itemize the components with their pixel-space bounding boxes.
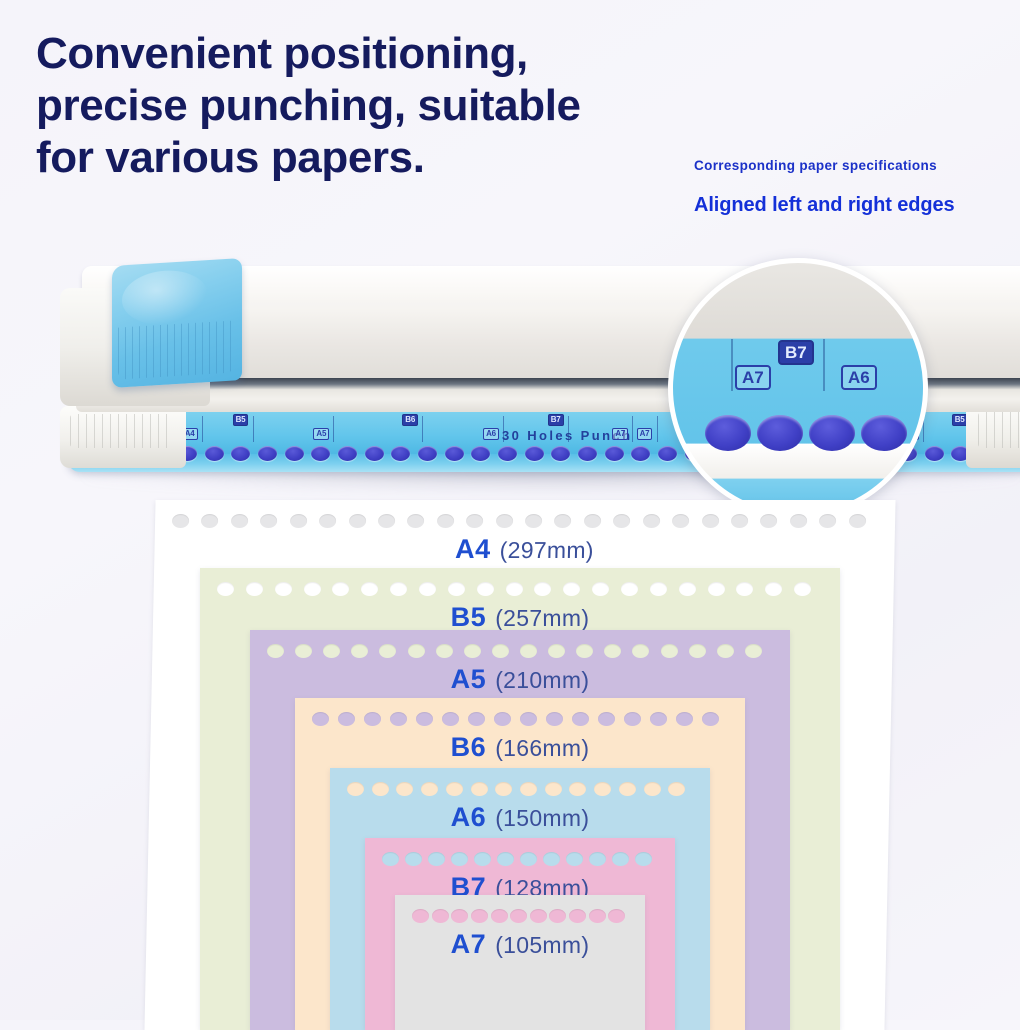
sheet-punch-hole (661, 644, 678, 658)
sheet-punch-hole (765, 582, 782, 596)
sheet-punch-hole (745, 644, 762, 658)
sheet-punch-hole (451, 909, 468, 923)
sheet-punch-hole (632, 644, 649, 658)
sheet-punch-hole (731, 514, 748, 528)
sheet-punch-hole (613, 514, 630, 528)
sheet-punch-hole (497, 852, 514, 866)
sheet-punch-hole (650, 582, 667, 596)
sheet-punch-hole (412, 909, 429, 923)
sheet-punch-hole (267, 644, 284, 658)
sheet-punch-hole (246, 582, 263, 596)
sheet-punch-hole (408, 644, 425, 658)
sheet-punch-hole (437, 514, 454, 528)
sheet-punch-hole (672, 514, 689, 528)
sheet-size-mm: (166mm) (495, 735, 589, 761)
sheet-size-label: A6(150mm) (330, 802, 710, 833)
sheet-punch-hole (506, 582, 523, 596)
sheet-punch-hole (416, 712, 433, 726)
sheet-punch-hole (621, 582, 638, 596)
sheet-punch-hole (819, 514, 836, 528)
sheet-punch-hole (451, 852, 468, 866)
sheet-punch-hole (569, 909, 586, 923)
sheet-punch-hole (382, 852, 399, 866)
sheet-punch-hole (608, 909, 625, 923)
sheet-size-label: A5(210mm) (250, 664, 790, 695)
sheet-punch-hole (390, 712, 407, 726)
sheet-size-label: B5(257mm) (200, 602, 840, 633)
sheet-punch-hole (668, 782, 685, 796)
sheet-punch-hole (495, 782, 512, 796)
sheet-punch-hole (471, 909, 488, 923)
sheet-punch-hole (548, 644, 565, 658)
sheet-punch-hole (569, 782, 586, 796)
sheet-punch-hole (525, 514, 542, 528)
sheet-punch-hole (624, 712, 641, 726)
sheet-punch-hole (650, 712, 667, 726)
sheet-punch-hole (295, 644, 312, 658)
sheet-punch-hole (421, 782, 438, 796)
sheet-punch-hole (612, 852, 629, 866)
sheet-punch-hole (604, 644, 621, 658)
sheet-punch-hole (708, 582, 725, 596)
sheet-punch-hole (717, 644, 734, 658)
sheet-punch-hole (736, 582, 753, 596)
sheet-punch-hole (576, 644, 593, 658)
sheet-punch-hole (351, 644, 368, 658)
sheet-punch-hole (217, 582, 234, 596)
sheet-punch-hole (794, 582, 811, 596)
sheet-punch-hole (584, 514, 601, 528)
sheet-punch-hole (760, 514, 777, 528)
sheet-punch-hole (520, 852, 537, 866)
sheet-punch-hole (496, 514, 513, 528)
sheet-punch-hole (635, 852, 652, 866)
sheet-size-mm: (297mm) (499, 537, 594, 563)
sheet-size-code: A6 (451, 802, 487, 832)
sheet-punch-hole (304, 582, 321, 596)
sheet-size-code: B6 (451, 732, 487, 762)
sheet-size-mm: (210mm) (495, 667, 589, 693)
sheet-size-code: A7 (451, 929, 487, 959)
sheet-size-label: B6(166mm) (295, 732, 745, 763)
sheet-punch-hole (323, 644, 340, 658)
sheet-punch-hole (474, 852, 491, 866)
sheet-punch-hole (260, 514, 277, 528)
sheet-punch-hole (701, 514, 718, 528)
sheet-punch-hole (319, 514, 336, 528)
sheet-size-label: A7(105mm) (395, 929, 645, 960)
sheet-punch-hole (364, 712, 381, 726)
sheet-punch-hole (592, 582, 609, 596)
sheet-punch-hole (361, 582, 378, 596)
sheet-hole-row (250, 644, 790, 664)
sheet-punch-hole (494, 712, 511, 726)
sheet-punch-hole (468, 712, 485, 726)
sheet-size-code: A4 (455, 534, 491, 564)
sheet-punch-hole (332, 582, 349, 596)
sheet-punch-hole (201, 514, 218, 528)
sheet-punch-hole (643, 514, 660, 528)
sheet-punch-hole (338, 712, 355, 726)
sheet-punch-hole (378, 514, 395, 528)
sheet-punch-hole (372, 782, 389, 796)
sheet-punch-hole (572, 712, 589, 726)
sheet-punch-hole (428, 852, 445, 866)
sheet-punch-hole (549, 909, 566, 923)
sheet-punch-hole (290, 514, 307, 528)
sheet-punch-hole (477, 582, 494, 596)
sheet-punch-hole (589, 909, 606, 923)
sheet-punch-hole (534, 582, 551, 596)
sheet-punch-hole (492, 644, 509, 658)
sheet-punch-hole (446, 782, 463, 796)
sheet-punch-hole (448, 582, 465, 596)
sheet-punch-hole (432, 909, 449, 923)
sheet-punch-hole (520, 782, 537, 796)
product-infographic: Convenient positioning, precise punching… (0, 0, 1020, 1020)
sheet-punch-hole (390, 582, 407, 596)
sheet-punch-hole (419, 582, 436, 596)
sheet-punch-hole (520, 644, 537, 658)
sheet-punch-hole (644, 782, 661, 796)
sheet-punch-hole (312, 712, 329, 726)
sheet-punch-hole (348, 514, 365, 528)
sheet-size-label: A4(297mm) (154, 534, 895, 565)
sheet-punch-hole (405, 852, 422, 866)
sheet-punch-hole (554, 514, 571, 528)
sheet-punch-hole (589, 852, 606, 866)
sheet-punch-hole (520, 712, 537, 726)
sheet-punch-hole (436, 644, 453, 658)
sheet-punch-hole (347, 782, 364, 796)
sheet-size-code: B5 (451, 602, 487, 632)
sheet-punch-hole (491, 909, 508, 923)
sheet-punch-hole (679, 582, 696, 596)
sheet-punch-hole (231, 514, 248, 528)
paper-size-stack: A4(297mm)B5(257mm)A5(210mm)B6(166mm)A6(1… (0, 0, 1020, 1020)
sheet-punch-hole (702, 712, 719, 726)
sheet-size-mm: (105mm) (495, 932, 589, 958)
sheet-hole-row (395, 909, 645, 929)
sheet-size-code: A5 (451, 664, 487, 694)
sheet-punch-hole (464, 644, 481, 658)
sheet-size-mm: (257mm) (495, 605, 589, 631)
sheet-punch-hole (510, 909, 527, 923)
sheet-punch-hole (790, 514, 807, 528)
sheet-punch-hole (172, 514, 189, 528)
sheet-punch-hole (275, 582, 292, 596)
sheet-punch-hole (545, 782, 562, 796)
sheet-punch-hole (530, 909, 547, 923)
paper-sheet-a7: A7(105mm) (395, 895, 645, 1030)
sheet-punch-hole (563, 582, 580, 596)
sheet-punch-hole (689, 644, 706, 658)
sheet-punch-hole (407, 514, 424, 528)
sheet-size-mm: (150mm) (495, 805, 589, 831)
sheet-hole-row (155, 514, 895, 534)
sheet-punch-hole (442, 712, 459, 726)
sheet-punch-hole (566, 852, 583, 866)
sheet-punch-hole (396, 782, 413, 796)
sheet-punch-hole (546, 712, 563, 726)
sheet-punch-hole (471, 782, 488, 796)
sheet-punch-hole (379, 644, 396, 658)
sheet-punch-hole (598, 712, 615, 726)
sheet-punch-hole (676, 712, 693, 726)
sheet-hole-row (200, 582, 840, 602)
sheet-punch-hole (543, 852, 560, 866)
sheet-punch-hole (849, 514, 866, 528)
sheet-hole-row (330, 782, 710, 802)
sheet-hole-row (295, 712, 745, 732)
sheet-punch-hole (466, 514, 483, 528)
sheet-hole-row (365, 852, 675, 872)
sheet-punch-hole (594, 782, 611, 796)
sheet-punch-hole (619, 782, 636, 796)
